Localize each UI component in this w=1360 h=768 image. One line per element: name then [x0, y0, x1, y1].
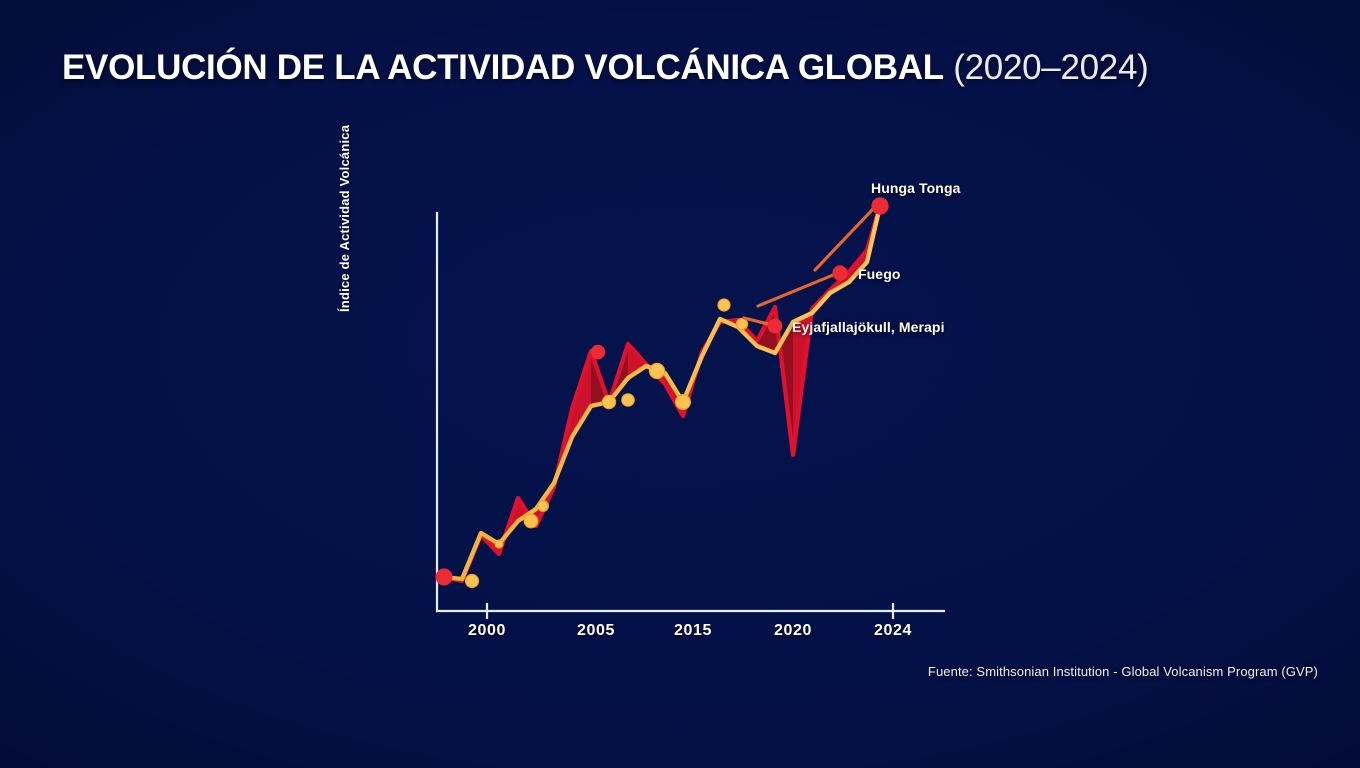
series-line-picos	[444, 206, 880, 581]
annotation-label-hunga-tonga: Hunga Tonga	[871, 180, 961, 196]
series-markers-indice	[466, 299, 748, 588]
volcanic-activity-line-chart	[0, 0, 1360, 768]
data-point-marker	[718, 299, 730, 311]
x-tick-label-2020: 2020	[774, 622, 812, 640]
data-point-marker	[436, 569, 453, 586]
annotation-dot-fuego[interactable]	[832, 265, 847, 280]
x-tick-label-2000: 2000	[468, 622, 506, 640]
data-point-marker	[602, 395, 615, 408]
source-note: Fuente: Smithsonian Institution - Global…	[928, 664, 1318, 679]
data-point-marker	[524, 514, 538, 528]
x-tick-label-2005: 2005	[577, 622, 615, 640]
x-tick-label-2024: 2024	[874, 622, 912, 640]
data-point-marker	[649, 363, 664, 378]
leader-line-fuego	[758, 273, 838, 306]
data-point-marker	[495, 540, 503, 548]
annotation-label-fuego: Fuego	[858, 266, 901, 282]
x-tick-label-2015: 2015	[674, 622, 712, 640]
annotation-dot-hunga-tonga[interactable]	[871, 197, 888, 214]
data-point-marker	[622, 394, 634, 406]
title-main-text: EVOLUCIÓN DE LA ACTIVIDAD VOLCÁNICA GLOB…	[62, 48, 944, 87]
data-point-marker	[538, 501, 549, 512]
title-year-range: (2020–2024)	[944, 48, 1149, 87]
chart-slide: EVOLUCIÓN DE LA ACTIVIDAD VOLCÁNICA GLOB…	[0, 0, 1360, 768]
annotation-dot-eyjafjallajokull[interactable]	[768, 319, 783, 334]
data-point-marker	[676, 395, 691, 410]
data-point-marker	[466, 575, 479, 588]
data-point-marker	[591, 345, 605, 359]
page-title: EVOLUCIÓN DE LA ACTIVIDAD VOLCÁNICA GLOB…	[62, 48, 1148, 88]
annotation-label-eyjafjallajokull-merapi: Eyjafjallajökull, Merapi	[792, 319, 945, 335]
data-point-marker	[736, 318, 747, 329]
y-axis-title: Índice de Actividad Volcánica	[337, 92, 352, 312]
